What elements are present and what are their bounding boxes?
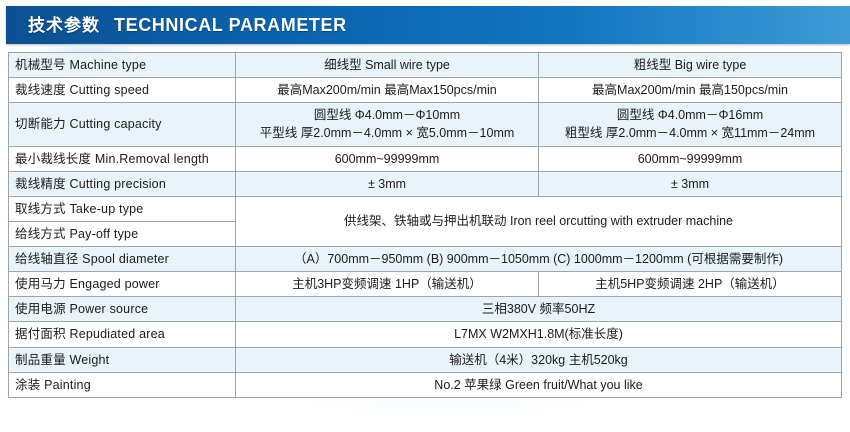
- cell-cutting-capacity-big: 圆型线 Φ4.0mm－Φ16mm 粗型线 厚2.0mm－4.0mm × 宽11m…: [539, 103, 842, 146]
- row-label-machine-type: 机械型号 Machine type: [9, 53, 236, 78]
- row-label-spool-diameter: 给线轴直径 Spool diameter: [9, 247, 236, 272]
- technical-parameter-table: 机械型号 Machine type 细线型 Small wire type 粗线…: [8, 52, 842, 398]
- cell-cutting-precision-big: ± 3mm: [539, 171, 842, 196]
- cell-min-removal-length-big: 600mm~99999mm: [539, 146, 842, 171]
- row-label-min-removal-length: 最小裁线长度 Min.Removal length: [9, 146, 236, 171]
- cell-take-up-and-pay-off-value: 供线架、铁轴或与押出机联动 Iron reel orcutting with e…: [236, 196, 842, 246]
- row-label-repudiated-area: 据付面积 Repudiated area: [9, 322, 236, 347]
- cutting-capacity-big-round-wire: 圆型线 Φ4.0mm－Φ16mm: [545, 106, 835, 124]
- table-row-painting: 涂装 Painting No.2 苹果绿 Green fruit/What yo…: [9, 372, 842, 397]
- cutting-capacity-small-flat-wire: 平型线 厚2.0mm－4.0mm × 宽5.0mm－10mm: [242, 124, 532, 142]
- row-label-weight: 制品重量 Weight: [9, 347, 236, 372]
- cell-repudiated-area-value: L7MX W2MXH1.8M(标准长度): [236, 322, 842, 347]
- table-body: 机械型号 Machine type 细线型 Small wire type 粗线…: [9, 53, 842, 398]
- table-row-cutting-precision: 裁线精度 Cutting precision ± 3mm ± 3mm: [9, 171, 842, 196]
- table-row-engaged-power: 使用马力 Engaged power 主机3HP变频调速 1HP（输送机） 主机…: [9, 272, 842, 297]
- cell-spool-diameter-value: （A）700mm－950mm (B) 900mm－1050mm (C) 1000…: [236, 247, 842, 272]
- page-header-banner: 技术参数 TECHNICAL PARAMETER: [6, 6, 850, 44]
- row-label-painting: 涂装 Painting: [9, 372, 236, 397]
- cell-cutting-speed-small: 最高Max200m/min 最高Max150pcs/min: [236, 78, 539, 103]
- cell-engaged-power-small: 主机3HP变频调速 1HP（输送机）: [236, 272, 539, 297]
- cell-weight-value: 输送机（4米）320kg 主机520kg: [236, 347, 842, 372]
- cell-cutting-precision-small: ± 3mm: [236, 171, 539, 196]
- table-row-take-up-type: 取线方式 Take-up type 供线架、铁轴或与押出机联动 Iron ree…: [9, 196, 842, 221]
- cutting-capacity-small-round-wire: 圆型线 Φ4.0mm－Φ10mm: [242, 106, 532, 124]
- row-label-cutting-speed: 裁线速度 Cutting speed: [9, 78, 236, 103]
- cell-big-wire-type-header: 粗线型 Big wire type: [539, 53, 842, 78]
- cell-engaged-power-big: 主机5HP变频调速 2HP（输送机）: [539, 272, 842, 297]
- table-row-cutting-speed: 裁线速度 Cutting speed 最高Max200m/min 最高Max15…: [9, 78, 842, 103]
- cell-cutting-speed-big: 最高Max200m/min 最高150pcs/min: [539, 78, 842, 103]
- table-row-power-source: 使用电源 Power source 三相380V 频率50HZ: [9, 297, 842, 322]
- banner-bar: 技术参数 TECHNICAL PARAMETER: [6, 6, 850, 44]
- row-label-cutting-precision: 裁线精度 Cutting precision: [9, 171, 236, 196]
- row-label-cutting-capacity: 切断能力 Cutting capacity: [9, 103, 236, 146]
- table-row-machine-type: 机械型号 Machine type 细线型 Small wire type 粗线…: [9, 53, 842, 78]
- table-row-min-removal-length: 最小裁线长度 Min.Removal length 600mm~99999mm …: [9, 146, 842, 171]
- table-row-spool-diameter: 给线轴直径 Spool diameter （A）700mm－950mm (B) …: [9, 247, 842, 272]
- cell-painting-value: No.2 苹果绿 Green fruit/What you like: [236, 372, 842, 397]
- row-label-take-up-type: 取线方式 Take-up type: [9, 196, 236, 221]
- row-label-pay-off-type: 给线方式 Pay-off type: [9, 221, 236, 246]
- cell-small-wire-type-header: 细线型 Small wire type: [236, 53, 539, 78]
- table-row-weight: 制品重量 Weight 输送机（4米）320kg 主机520kg: [9, 347, 842, 372]
- row-label-engaged-power: 使用马力 Engaged power: [9, 272, 236, 297]
- cell-power-source-value: 三相380V 频率50HZ: [236, 297, 842, 322]
- banner-title-chinese: 技术参数: [28, 17, 100, 34]
- cell-min-removal-length-small: 600mm~99999mm: [236, 146, 539, 171]
- table-row-cutting-capacity: 切断能力 Cutting capacity 圆型线 Φ4.0mm－Φ10mm 平…: [9, 103, 842, 146]
- cell-cutting-capacity-small: 圆型线 Φ4.0mm－Φ10mm 平型线 厚2.0mm－4.0mm × 宽5.0…: [236, 103, 539, 146]
- row-label-power-source: 使用电源 Power source: [9, 297, 236, 322]
- cutting-capacity-big-thick-wire: 粗型线 厚2.0mm－4.0mm × 宽11mm－24mm: [545, 124, 835, 142]
- table-row-repudiated-area: 据付面积 Repudiated area L7MX W2MXH1.8M(标准长度…: [9, 322, 842, 347]
- technical-parameter-table-wrapper: 机械型号 Machine type 细线型 Small wire type 粗线…: [8, 52, 842, 398]
- banner-title-english: TECHNICAL PARAMETER: [114, 16, 347, 34]
